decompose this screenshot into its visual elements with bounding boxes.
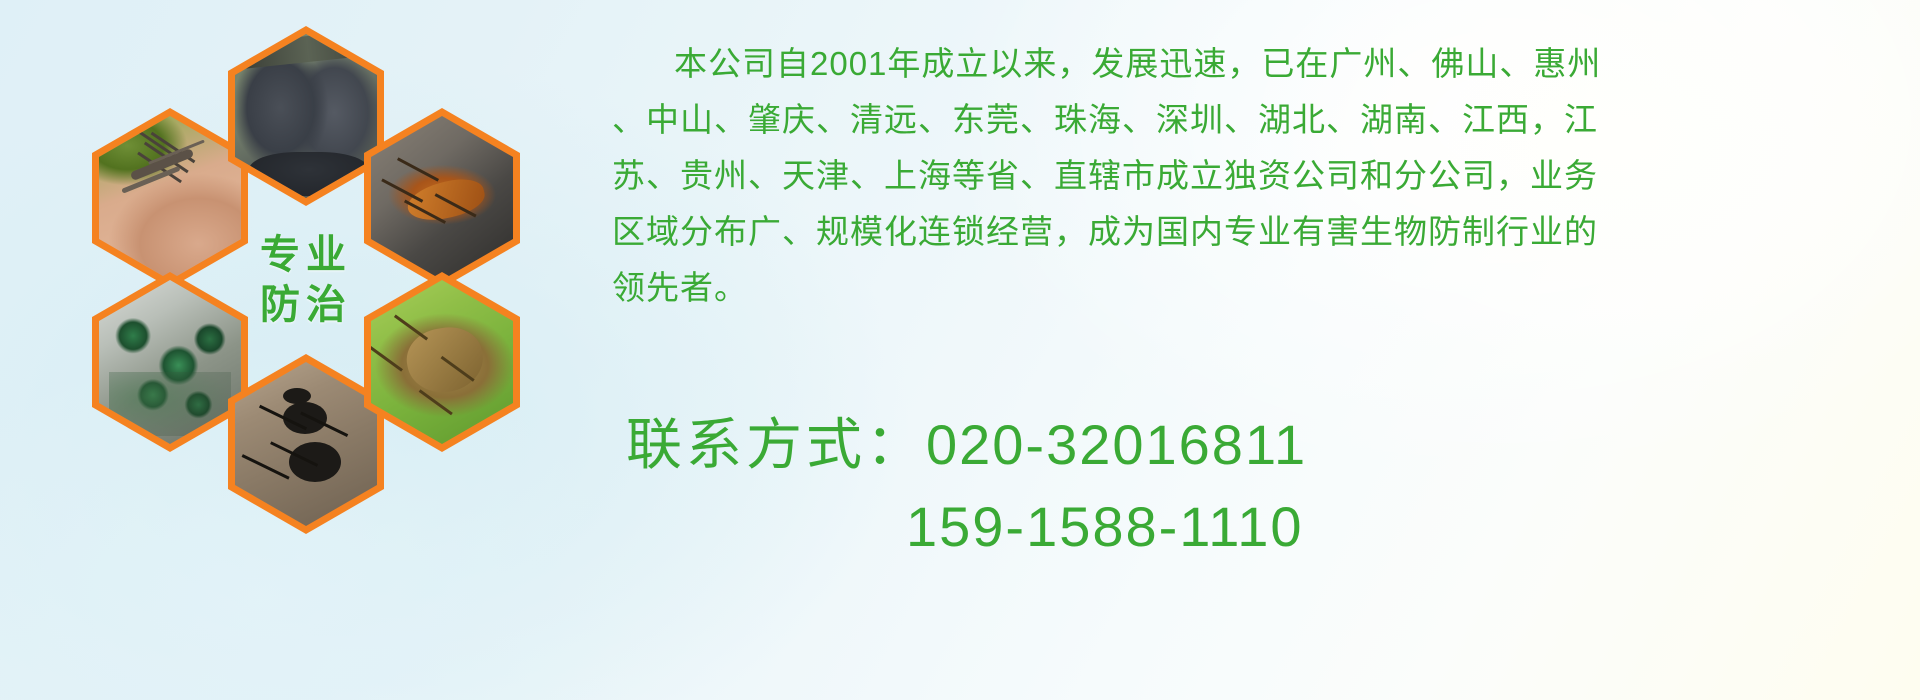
contact-primary-line: 联系方式：020-32016811 (626, 404, 1726, 486)
hex-inner-flies (99, 280, 241, 444)
company-intro-paragraph: 本公司自2001年成立以来，发展迅速，已在广州、佛山、惠州 、中山、肇庆、清远、… (612, 36, 1902, 316)
hex-cell-mosquito[interactable] (92, 108, 248, 288)
intro-line-5: 领先者。 (612, 260, 1902, 316)
cockroach-photo-icon (371, 116, 513, 280)
contact-phone-primary[interactable]: 020-32016811 (926, 413, 1307, 476)
honeycomb-center-text: 专业 防治 (228, 190, 384, 370)
contact-label: 联系方式： (626, 413, 926, 476)
rats-photo-icon (235, 34, 377, 198)
intro-line-2: 、中山、肇庆、清远、东莞、珠海、深圳、湖北、湖南、江西，江 (612, 92, 1902, 148)
contact-phone-secondary[interactable]: 159-1588-1110 (906, 495, 1304, 558)
honeycomb-photo-cluster: 专业 防治 (92, 8, 592, 568)
intro-line-4: 区域分布广、规模化连锁经营，成为国内专业有害生物防制行业的 (612, 204, 1902, 260)
intro-line-1: 本公司自2001年成立以来，发展迅速，已在广州、佛山、惠州 (612, 36, 1902, 92)
hex-cell-flies[interactable] (92, 272, 248, 452)
hex-inner-ant (235, 362, 377, 526)
ant-photo-icon (235, 362, 377, 526)
hex-inner-rats (235, 34, 377, 198)
hex-cell-center-label: 专业 防治 (228, 190, 384, 370)
hex-inner-mosquito (99, 116, 241, 280)
hex-cell-stinkbug[interactable] (364, 272, 520, 452)
stinkbug-photo-icon (371, 280, 513, 444)
contact-block: 联系方式：020-32016811 159-1588-1110 (626, 404, 1726, 568)
hex-cell-ant[interactable] (228, 354, 384, 534)
center-label-line-2: 防治 (260, 280, 352, 330)
intro-line-3: 苏、贵州、天津、上海等省、直辖市成立独资公司和分公司，业务 (612, 148, 1902, 204)
company-intro-block: 本公司自2001年成立以来，发展迅速，已在广州、佛山、惠州 、中山、肇庆、清远、… (612, 36, 1902, 316)
hex-cell-cockroach[interactable] (364, 108, 520, 288)
hex-inner-stinkbug (371, 280, 513, 444)
hex-inner-cockroach (371, 116, 513, 280)
promo-banner: 专业 防治 本公司自2001年成立以来，发展迅速，已在广州、佛山、惠州 、中山、… (0, 0, 1920, 700)
center-label-line-1: 专业 (260, 230, 352, 280)
flies-photo-icon (99, 280, 241, 444)
contact-secondary-line: 159-1588-1110 (626, 486, 1726, 568)
hex-cell-rats[interactable] (228, 26, 384, 206)
mosquito-photo-icon (99, 116, 241, 280)
